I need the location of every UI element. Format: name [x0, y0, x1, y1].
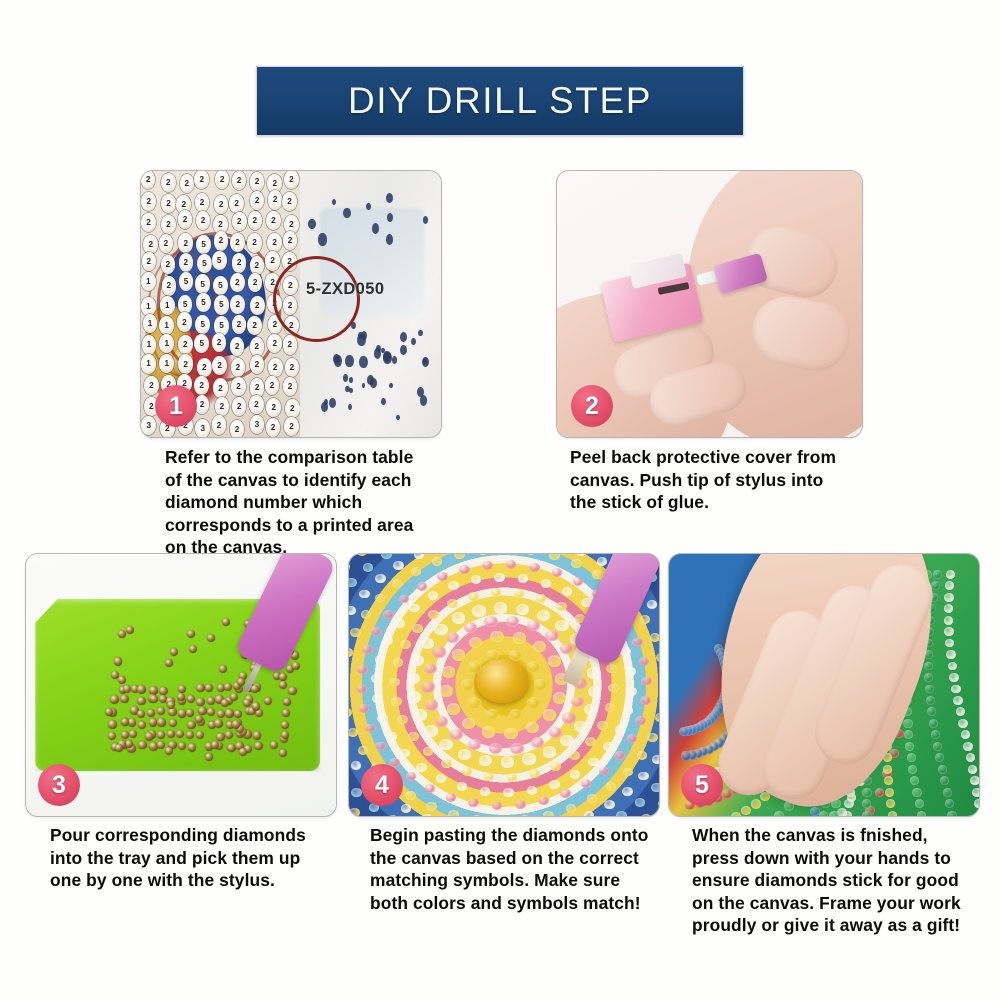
step-1-caption: Refer to the comparison table of the can…	[165, 446, 455, 559]
page-title: DIY DRILL STEP	[348, 80, 652, 122]
step-3-image: 3	[25, 553, 335, 815]
step-3-photo: 3	[25, 553, 337, 817]
step-2-image: 2	[556, 170, 861, 436]
step-badge-2: 2	[571, 385, 613, 427]
step-2-photo: 2	[556, 170, 863, 438]
step-5-photo: 5	[668, 553, 980, 817]
infographic-page: DIY DRILL STEP 2222222222222222222222222…	[0, 0, 1001, 1001]
step-badge-4: 4	[361, 764, 403, 806]
step-4-photo: 4	[348, 553, 660, 817]
bag-label-text: 5-ZXD050	[306, 280, 384, 299]
step-badge-1: 1	[155, 385, 197, 427]
step-5-caption: When the canvas is fnished, press down w…	[692, 824, 992, 937]
step-2-caption: Peel back protective cover from canvas. …	[570, 446, 870, 514]
title-banner: DIY DRILL STEP	[256, 66, 744, 136]
step-1-photo: 2222222222222222222222222222225222222225…	[140, 170, 442, 438]
mandala-center-gem	[476, 659, 529, 704]
step-badge-3: 3	[38, 764, 80, 806]
step-4-image: 4	[348, 553, 658, 815]
step-1-image: 2222222222222222222222222222225222222225…	[140, 170, 440, 436]
step-3-caption: Pour corresponding diamonds into the tra…	[50, 824, 350, 892]
step-4-caption: Begin pasting the diamonds onto the canv…	[370, 824, 670, 914]
step-badge-5: 5	[681, 764, 723, 806]
step-5-image: 5	[668, 553, 978, 815]
